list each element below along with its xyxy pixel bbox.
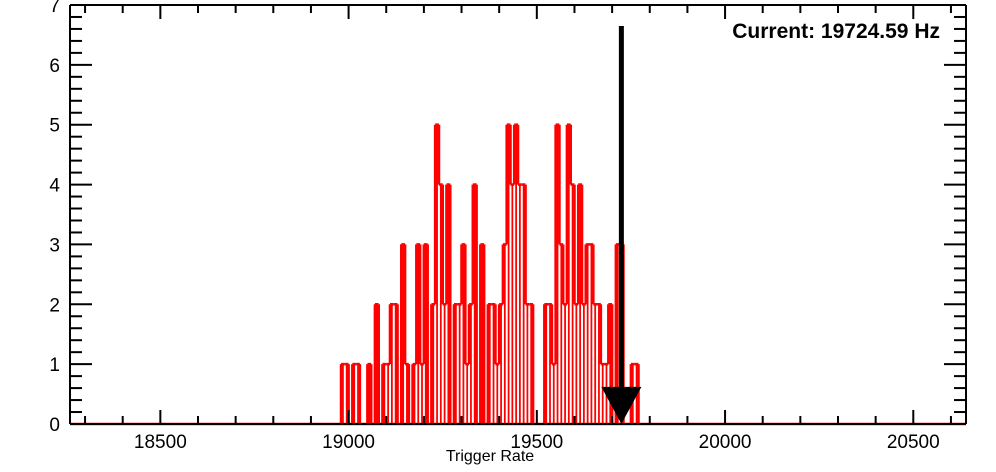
y-tick-label: 7: [49, 0, 60, 17]
plot-canvas: 012345671850019000195002000020500 Trigge…: [0, 0, 996, 472]
y-tick-label: 3: [49, 235, 60, 256]
y-tick-label: 6: [49, 56, 60, 77]
x-tick-label: 20000: [699, 432, 752, 453]
x-tick-label: 20500: [887, 432, 940, 453]
y-tick-label: 2: [49, 295, 60, 316]
x-tick-label: 18500: [134, 432, 187, 453]
histogram-plot: 012345671850019000195002000020500 Trigge…: [0, 0, 996, 472]
y-tick-label: 0: [49, 415, 60, 436]
y-tick-label: 5: [49, 116, 60, 137]
y-tick-label: 4: [49, 176, 60, 197]
x-axis-title: Trigger Rate: [446, 448, 534, 465]
current-rate-annotation: Current: 19724.59 Hz: [732, 20, 940, 43]
plot-background: [70, 5, 966, 424]
y-tick-label: 1: [49, 355, 60, 376]
x-tick-label: 19000: [322, 432, 375, 453]
